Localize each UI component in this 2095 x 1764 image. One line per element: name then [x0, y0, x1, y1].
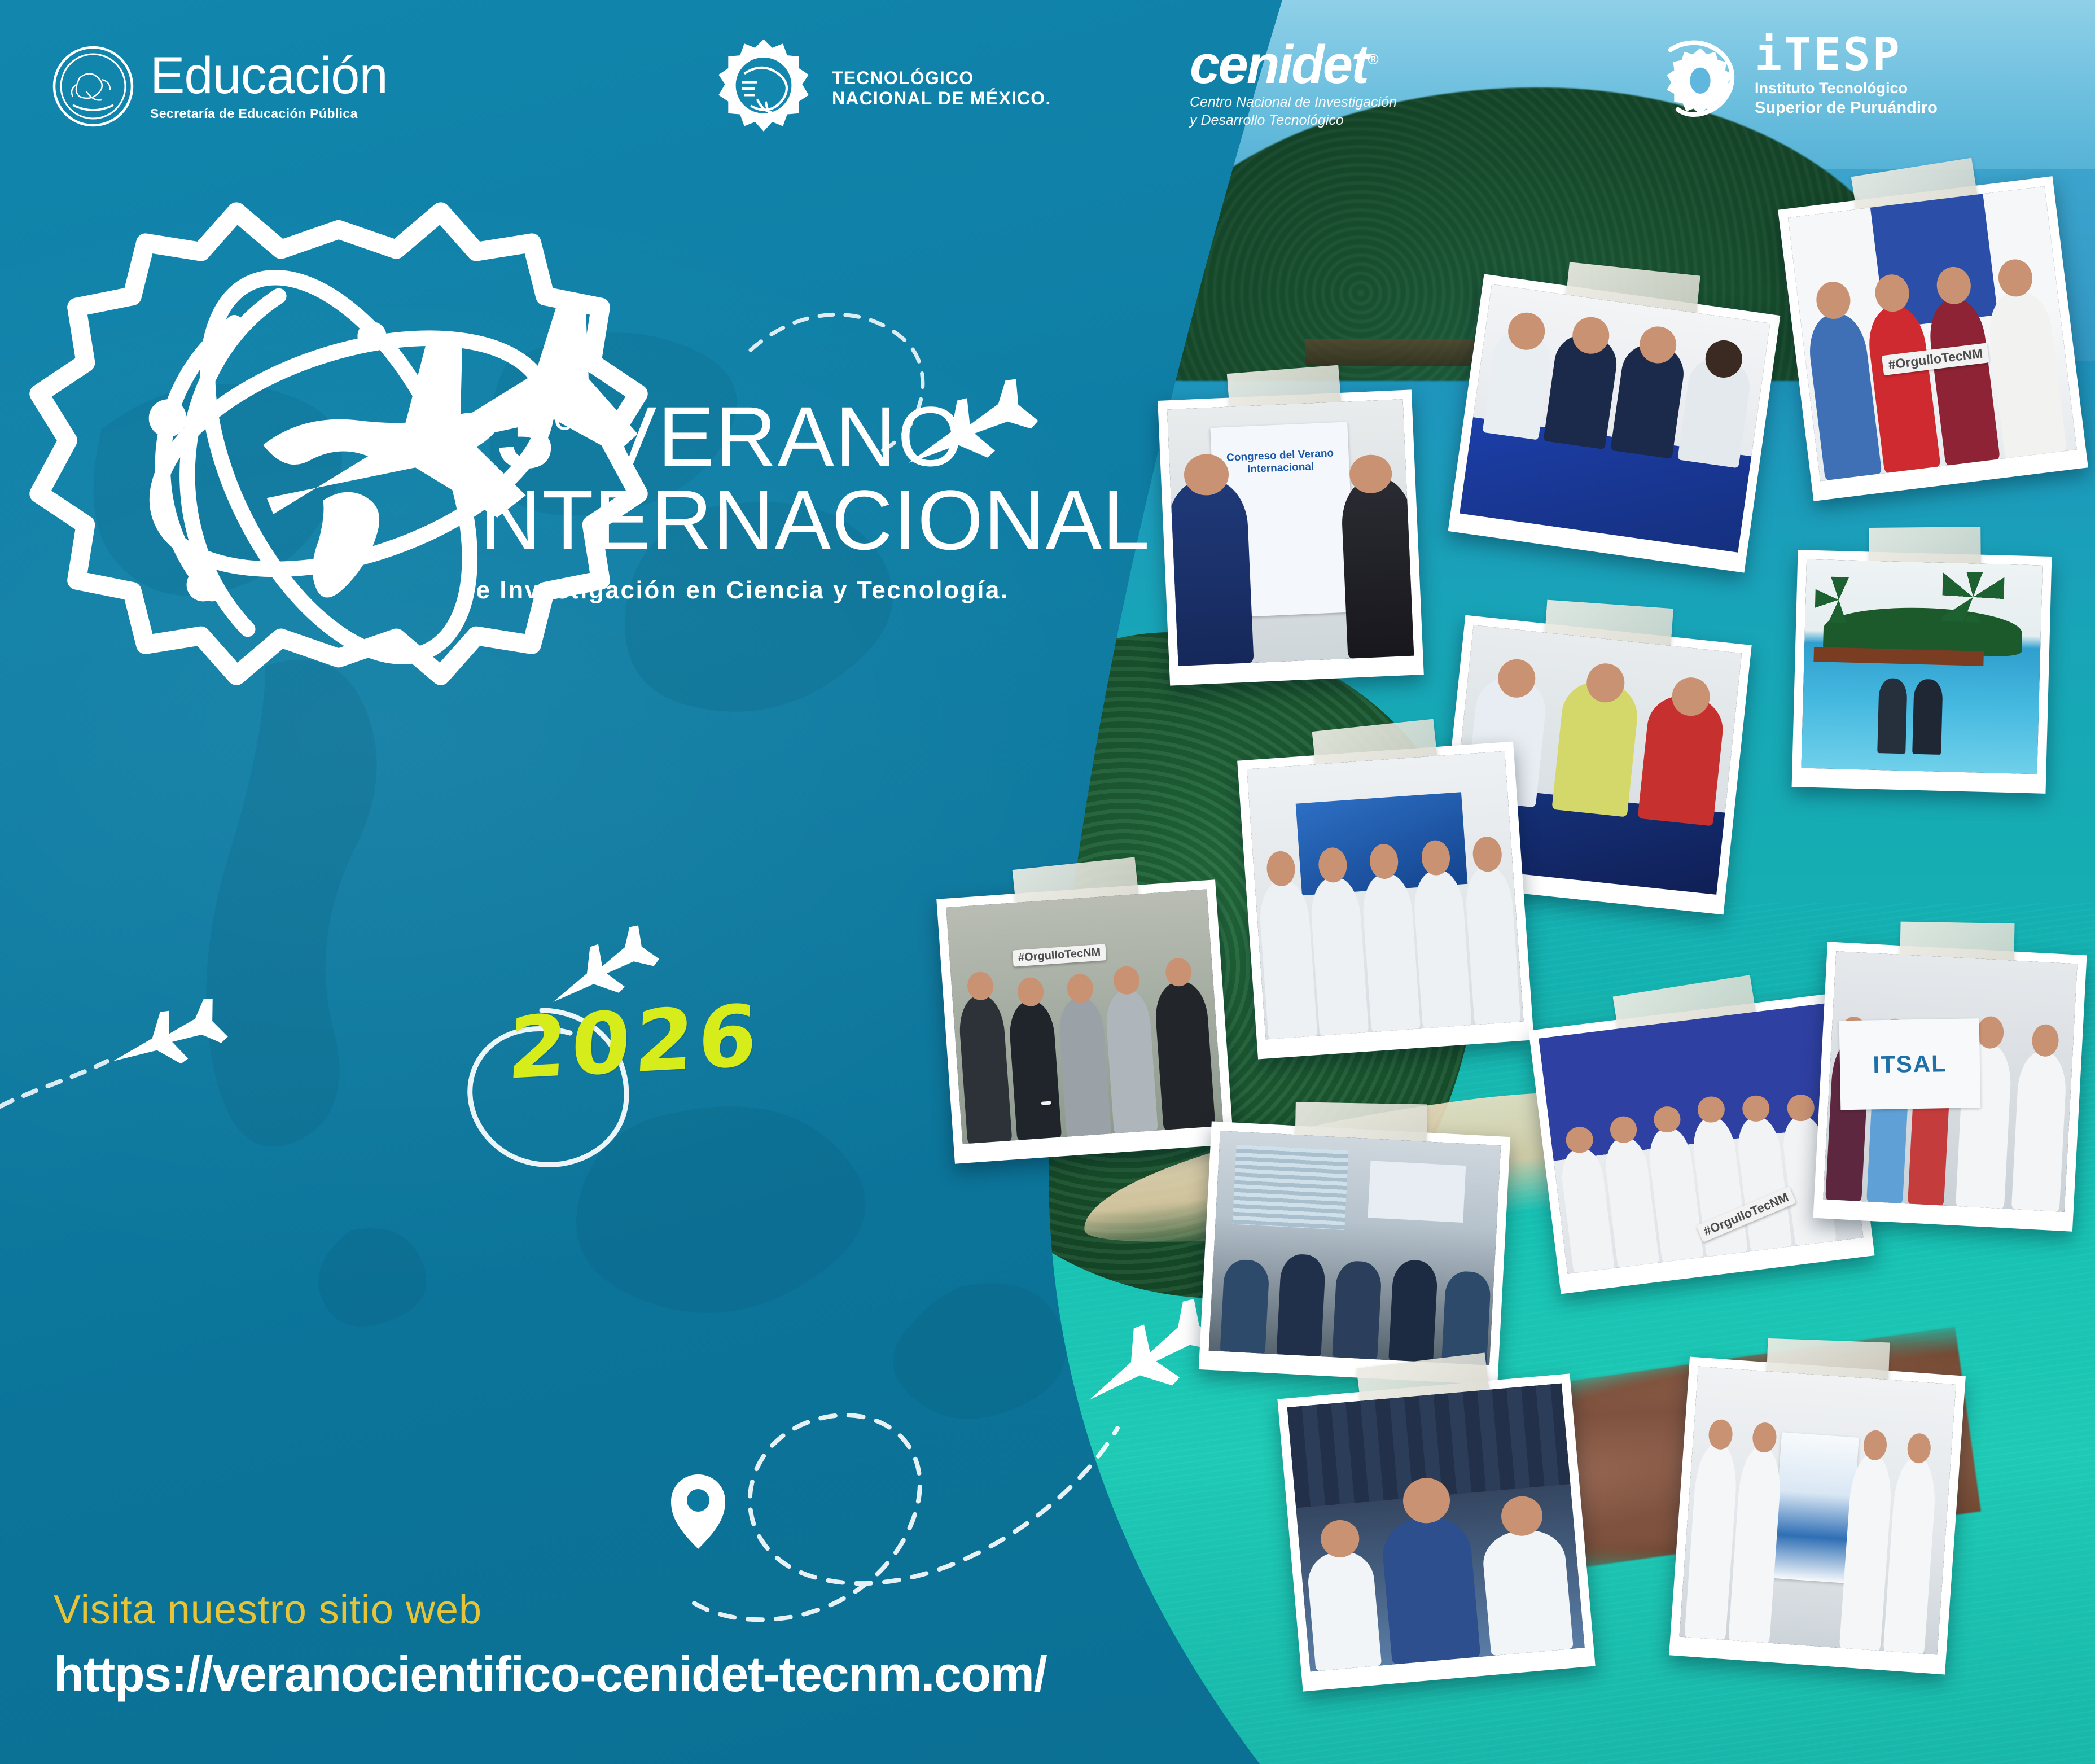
list-item[interactable]: [1277, 1373, 1595, 1691]
photo-caption: ITSAL: [1873, 1050, 1947, 1079]
list-item[interactable]: [1448, 274, 1781, 572]
poster-canvas: Educación Secretaría de Educación Públic…: [0, 0, 2095, 1764]
list-item[interactable]: Congreso del Verano Internacional: [1158, 389, 1424, 685]
photo-caption: [1041, 1101, 1051, 1105]
person-silhouette: [1276, 1253, 1326, 1356]
list-item[interactable]: #OrgulloTecNM: [1778, 176, 2088, 501]
photo-p7: #OrgulloTecNM: [946, 889, 1223, 1144]
palm-tree: [1942, 571, 2005, 623]
photo-p12: [1679, 1367, 1956, 1655]
person-silhouette: [1481, 1527, 1574, 1656]
person-silhouette: [1340, 476, 1414, 659]
person-silhouette: [1913, 679, 1943, 755]
person-silhouette: [1332, 1260, 1382, 1360]
photo-p11: [1287, 1384, 1585, 1672]
palm-tree: [1815, 576, 1863, 624]
person-silhouette: [1380, 1514, 1480, 1664]
photo-p9: ITSAL: [1823, 951, 2077, 1212]
photo-p3: #OrgulloTecNM: [1788, 186, 2077, 481]
photo-p1: Congreso del Verano Internacional: [1167, 399, 1414, 666]
person-silhouette: [1167, 478, 1254, 666]
person-silhouette: [2011, 1050, 2068, 1212]
list-item[interactable]: [1199, 1121, 1510, 1385]
photo-p2: [1460, 284, 1770, 552]
projector-screen: [1368, 1161, 1466, 1223]
itsal-banner: ITSAL: [1839, 1018, 1981, 1110]
window-blinds: [1232, 1145, 1348, 1230]
list-item[interactable]: [1792, 550, 2052, 794]
person-silhouette: [1441, 1271, 1491, 1365]
photo-collage: Congreso del Verano Internacional: [0, 0, 2095, 1764]
person-silhouette: [1305, 1549, 1382, 1671]
person-silhouette: [1877, 678, 1908, 754]
list-item[interactable]: [1669, 1357, 1966, 1675]
person-silhouette: [1388, 1259, 1439, 1362]
photo-p8: #OrgulloTecNM: [1539, 1002, 1863, 1273]
person-silhouette: [1220, 1259, 1269, 1354]
list-item[interactable]: [1237, 742, 1534, 1060]
list-item[interactable]: #OrgulloTecNM: [936, 879, 1234, 1163]
list-item[interactable]: ITSAL: [1813, 942, 2087, 1231]
photo-p10: [1209, 1131, 1501, 1365]
photo-p4: [1801, 559, 2043, 774]
photo-p6: [1247, 751, 1523, 1040]
